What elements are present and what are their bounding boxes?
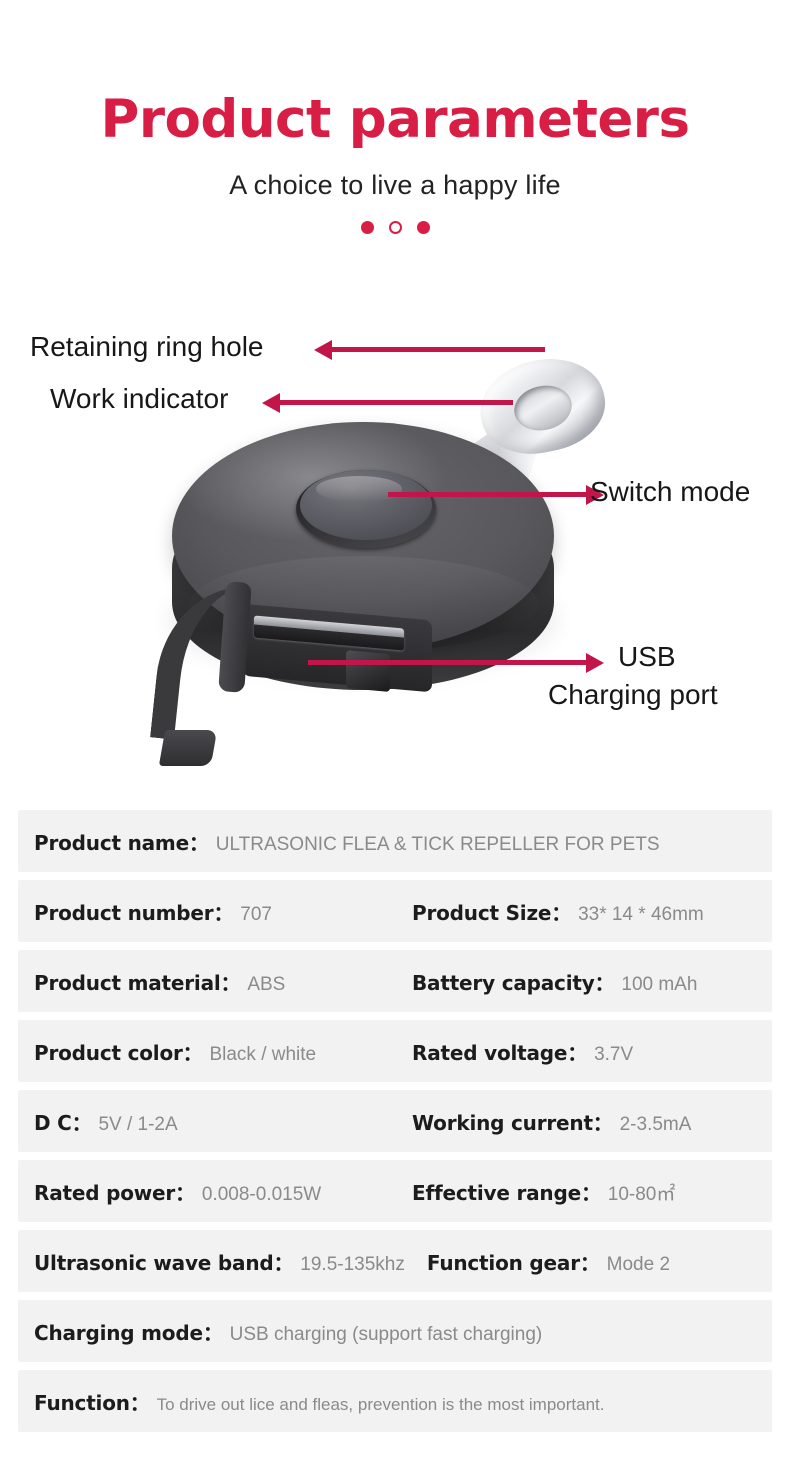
spec-cell: Rated power：0.008-0.015W — [34, 1177, 412, 1206]
table-row: Product name：ULTRASONIC FLEA & TICK REPE… — [18, 810, 772, 872]
spec-cell: Product material：ABS — [34, 967, 412, 996]
arrow-switch-mode — [388, 492, 588, 497]
spec-label: Function： — [34, 1387, 150, 1416]
spec-value: Black / white — [209, 1044, 316, 1066]
spec-label: D C： — [34, 1107, 91, 1136]
spec-value: ABS — [247, 974, 285, 996]
switch-button-gloss — [316, 476, 402, 502]
spec-cell: Product Size：33* 14 * 46mm — [412, 897, 756, 926]
spec-cell: Function：To drive out lice and fleas, pr… — [34, 1387, 756, 1416]
spec-value: USB charging (support fast charging) — [230, 1324, 543, 1346]
table-row: Product material：ABSBattery capacity：100… — [18, 950, 772, 1012]
spec-label: Product color： — [34, 1037, 202, 1066]
spec-label: Working current： — [412, 1107, 613, 1136]
table-row: D C：5V / 1-2AWorking current：2-3.5mA — [18, 1090, 772, 1152]
spec-cell: Function gear：Mode 2 — [427, 1247, 756, 1276]
spec-value: 707 — [240, 904, 272, 926]
callout-work-indicator: Work indicator — [50, 382, 228, 415]
spec-cell: Battery capacity：100 mAh — [412, 967, 756, 996]
spec-value: To drive out lice and fleas, prevention … — [157, 1395, 605, 1415]
spec-value: 19.5-135khz — [300, 1254, 405, 1276]
spec-value: 0.008-0.015W — [202, 1184, 321, 1206]
spec-label: Charging mode： — [34, 1317, 223, 1346]
spec-cell: Rated voltage：3.7V — [412, 1037, 756, 1066]
specification-table: Product name：ULTRASONIC FLEA & TICK REPE… — [18, 810, 772, 1440]
spec-label: Battery capacity： — [412, 967, 614, 996]
arrow-work-indicator — [278, 400, 513, 405]
spec-cell: Working current：2-3.5mA — [412, 1107, 756, 1136]
spec-value: 33* 14 * 46mm — [578, 904, 704, 926]
callout-usb: USB — [618, 640, 676, 673]
arrow-usb-charging-port — [308, 660, 588, 665]
spec-value: 100 mAh — [621, 974, 697, 996]
page-title: Product parameters — [0, 92, 790, 148]
spec-label: Ultrasonic wave band： — [34, 1247, 293, 1276]
spec-value: Mode 2 — [607, 1254, 670, 1276]
spec-value: 5V / 1-2A — [98, 1114, 177, 1136]
table-row: Rated power：0.008-0.015WEffective range：… — [18, 1160, 772, 1222]
dot-filled-left — [361, 221, 374, 234]
callout-switch-mode: Switch mode — [590, 475, 750, 508]
table-row: Function：To drive out lice and fleas, pr… — [18, 1370, 772, 1432]
spec-value: 3.7V — [594, 1044, 633, 1066]
spec-label: Rated power： — [34, 1177, 195, 1206]
spec-cell: Effective range：10-80㎡ — [412, 1177, 756, 1206]
page-subtitle: A choice to live a happy life — [0, 170, 790, 201]
spec-label: Effective range： — [412, 1177, 601, 1206]
spec-label: Product Size： — [412, 897, 571, 926]
spec-value: 10-80㎡ — [608, 1179, 676, 1206]
spec-cell: Product number：707 — [34, 897, 412, 926]
spec-cell: Ultrasonic wave band：19.5-135khz — [34, 1247, 405, 1276]
table-row: Charging mode：USB charging (support fast… — [18, 1300, 772, 1362]
arrow-retaining-ring-hole — [330, 347, 545, 352]
collar-clip-hook — [159, 730, 217, 766]
usb-port-block — [346, 650, 390, 692]
spec-cell: D C：5V / 1-2A — [34, 1107, 412, 1136]
product-illustration: Retaining ring hole Work indicator Switc… — [0, 300, 790, 800]
spec-cell: Charging mode：USB charging (support fast… — [34, 1317, 756, 1346]
table-row: Ultrasonic wave band：19.5-135khzFunction… — [18, 1230, 772, 1292]
spec-label: Product name： — [34, 827, 209, 856]
dot-filled-right — [417, 221, 430, 234]
spec-label: Product material： — [34, 967, 240, 996]
dot-hollow-center — [389, 221, 402, 234]
page-header: Product parameters A choice to live a ha… — [0, 0, 790, 234]
table-row: Product color：Black / whiteRated voltage… — [18, 1020, 772, 1082]
spec-label: Rated voltage： — [412, 1037, 587, 1066]
spec-value: 2-3.5mA — [620, 1114, 692, 1136]
callout-charging-port: Charging port — [548, 678, 718, 711]
spec-value: ULTRASONIC FLEA & TICK REPELLER FOR PETS — [216, 834, 660, 856]
spec-label: Product number： — [34, 897, 233, 926]
table-row: Product number：707Product Size：33* 14 * … — [18, 880, 772, 942]
callout-retaining-ring-hole: Retaining ring hole — [30, 330, 264, 363]
spec-cell: Product name：ULTRASONIC FLEA & TICK REPE… — [34, 827, 756, 856]
spec-cell: Product color：Black / white — [34, 1037, 412, 1066]
spec-label: Function gear： — [427, 1247, 600, 1276]
decorative-dots — [0, 221, 790, 234]
product-parameters-page: Product parameters A choice to live a ha… — [0, 0, 790, 1468]
